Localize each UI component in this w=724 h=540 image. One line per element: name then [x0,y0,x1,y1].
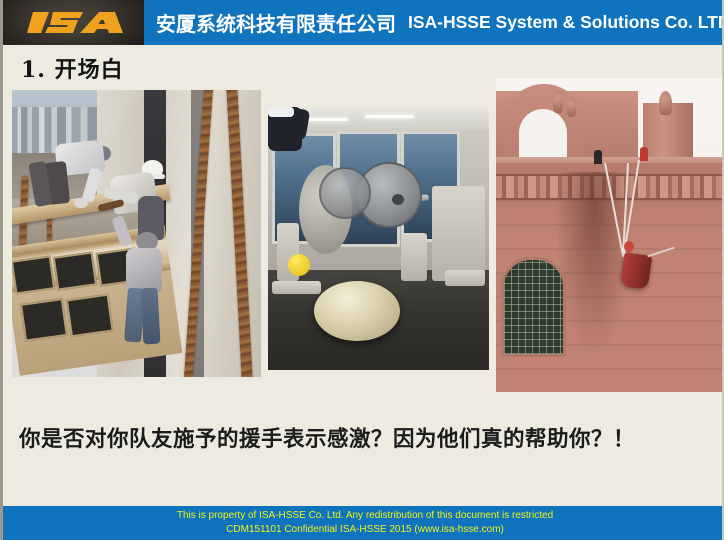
photo2-medicine-ball [288,254,310,276]
company-name-chinese: 安厦系统科技有限责任公司 [156,8,396,37]
photo-gym-squat-on-ball [268,107,489,370]
photo1-formwork-panel [20,298,68,342]
photo3-finial [553,91,563,113]
slide-footer: This is property of ISA-HSSE Co. Ltd. An… [3,506,724,540]
photo3-person-on-roof-red [640,147,648,161]
photo2-spotter-shoe [268,107,294,117]
header-company-bar: 安厦系统科技有限责任公司 ISA-HSSE System & Solutions… [144,0,724,45]
photo3-barrel [620,252,652,290]
slide-canvas: 安厦系统科技有限责任公司 ISA-HSSE System & Solutions… [0,0,724,540]
photo3-arch [503,84,585,166]
slide-title: 1. 开场白 [21,52,124,84]
photo1-formwork-panel [53,251,97,290]
photo2-barbell-collar [392,194,404,205]
slide-header: 安厦系统科技有限责任公司 ISA-HSSE System & Solutions… [3,0,724,45]
photo2-exercise-ball [314,281,400,341]
isa-logo-icon [27,9,123,36]
photo1-formwork-panel [66,293,114,337]
photo1-formwork-panel [12,255,55,294]
photo3-person-on-roof [594,150,602,164]
photo-construction-workers-at-height [12,90,261,377]
photo3-finial [567,97,576,117]
photo3-tower-finial [659,91,672,115]
photo2-barbell-plate-back [319,167,371,219]
photo2-machine-base [445,270,485,286]
photo2-gym-machine [432,186,485,281]
photo3-grilled-window [501,257,567,357]
photo2-machine-base [272,281,321,294]
slide-caption: 你是否对你队友施予的援手表示感激？因为他们真的帮助你？！ [19,422,719,453]
company-name-english: ISA-HSSE System & Solutions Co. LTD [408,12,724,33]
photo3-wall-stain [556,172,634,354]
photo-worker-suspended-in-barrel [496,78,724,392]
footer-line-2: CDM151101 Confidential ISA-HSSE 2015 (ww… [3,523,724,537]
photo2-ceiling-light [365,115,414,118]
photo1-glove [74,198,88,208]
header-logo-panel [3,0,144,45]
photo2-gym-machine [401,233,428,280]
footer-line-1: This is property of ISA-HSSE Co. Ltd. An… [3,509,724,523]
